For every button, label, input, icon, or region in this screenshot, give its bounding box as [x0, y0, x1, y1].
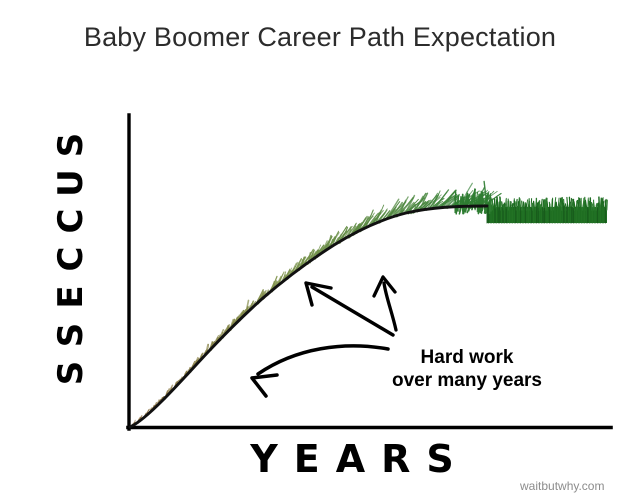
chart-page: Baby Boomer Career Path Expectation	[0, 0, 640, 503]
x-axis-label: YEARS	[200, 437, 520, 481]
y-axis-letter: S	[53, 125, 91, 165]
y-axis-letter: C	[53, 239, 91, 279]
y-axis-letter: E	[53, 277, 91, 317]
success-curve-line	[130, 206, 487, 427]
watermark: waitbutwhy.com	[520, 479, 604, 493]
annotation-line-2: over many years	[372, 369, 562, 392]
y-axis-letter: S	[53, 353, 91, 393]
y-axis-label: S U C C E S S	[44, 126, 100, 392]
y-axis-letter: C	[53, 201, 91, 241]
annotation-label: Hard work over many years	[372, 346, 562, 392]
annotation-line-1: Hard work	[372, 346, 562, 369]
y-axis-letter: U	[53, 163, 91, 203]
y-axis-letter: S	[53, 315, 91, 355]
